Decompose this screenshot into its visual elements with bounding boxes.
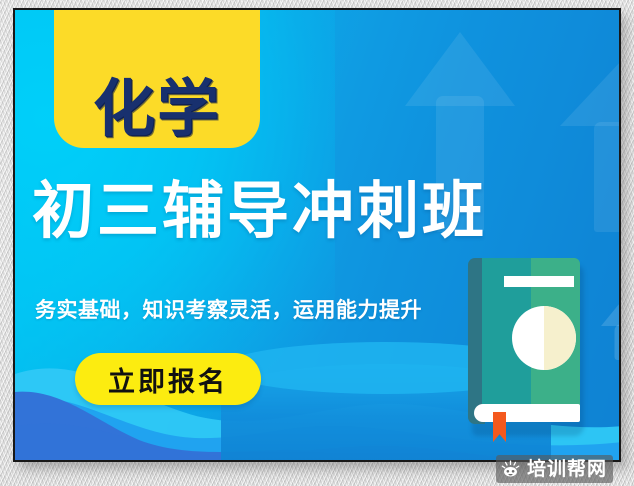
course-promo-banner: 化学 初三辅导冲刺班 务实基础，知识考察灵活，运用能力提升 立即报名 xyxy=(15,10,619,460)
subject-tag: 化学 xyxy=(54,10,260,148)
up-arrow-head xyxy=(560,62,619,126)
book-illustration xyxy=(468,258,582,436)
smiling-face-sunburst-icon xyxy=(500,459,521,480)
book-title-bar xyxy=(504,276,574,287)
page-backdrop: 化学 初三辅导冲刺班 务实基础，知识考察灵活，运用能力提升 立即报名 xyxy=(0,0,634,486)
up-arrow-head xyxy=(405,32,515,106)
book-circle-right-half xyxy=(544,306,576,370)
up-arrow-head xyxy=(601,298,619,326)
banner-subtitle: 务实基础，知识考察灵活，运用能力提升 xyxy=(35,294,422,324)
up-arrow-stem xyxy=(615,324,620,360)
watermark-text: 培训帮网 xyxy=(527,460,607,479)
watermark: 培训帮网 xyxy=(496,455,613,483)
enroll-now-button[interactable]: 立即报名 xyxy=(75,353,261,405)
book-cover xyxy=(482,258,580,416)
banner-frame: 化学 初三辅导冲刺班 务实基础，知识考察灵活，运用能力提升 立即报名 xyxy=(13,8,621,462)
book-circle-emblem xyxy=(512,306,576,370)
book-pages xyxy=(474,404,580,422)
enroll-now-label: 立即报名 xyxy=(108,360,228,399)
up-arrow-icon-small xyxy=(601,298,619,360)
subject-tag-label: 化学 xyxy=(93,78,221,140)
page-title: 初三辅导冲刺班 xyxy=(32,178,607,243)
